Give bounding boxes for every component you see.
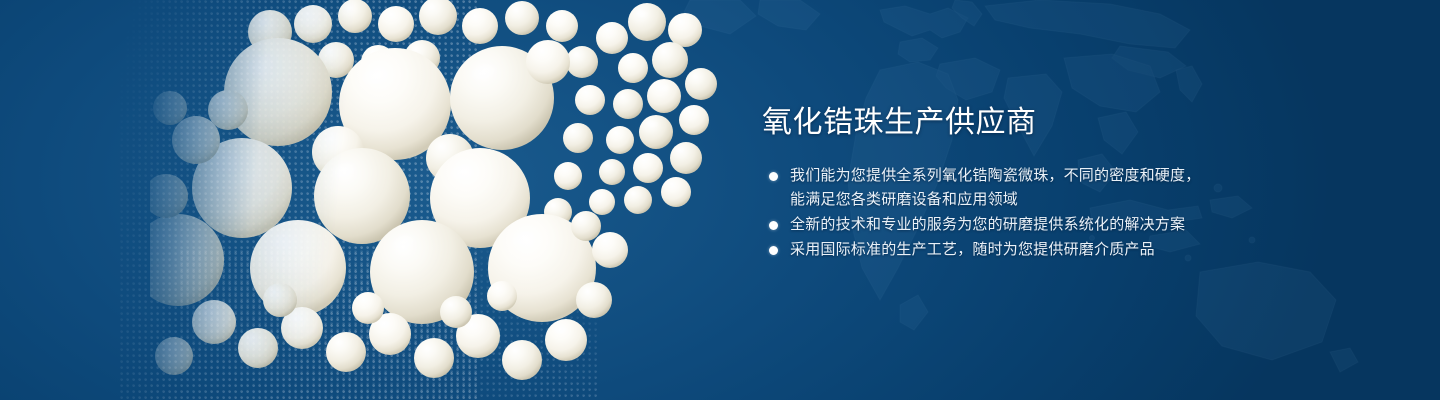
list-item-line1: 采用国际标准的生产工艺，随时为您提供研磨介质产品 <box>790 238 1232 262</box>
feature-list: 我们能为您提供全系列氧化锆陶瓷微珠，不同的密度和硬度， 能满足您各类研磨设备和应… <box>762 164 1232 262</box>
bullet-dot-icon <box>769 246 778 255</box>
hero-banner: 氧化锆珠生产供应商 我们能为您提供全系列氧化锆陶瓷微珠，不同的密度和硬度， 能满… <box>0 0 1440 400</box>
list-item-line1: 全新的技术和专业的服务为您的研磨提供系统化的解决方案 <box>790 213 1232 237</box>
list-item: 全新的技术和专业的服务为您的研磨提供系统化的解决方案 <box>762 213 1232 237</box>
list-item: 我们能为您提供全系列氧化锆陶瓷微珠，不同的密度和硬度， 能满足您各类研磨设备和应… <box>762 164 1232 212</box>
bullet-dot-icon <box>769 172 778 181</box>
bullet-dot-icon <box>769 221 778 230</box>
zirconia-beads-photo <box>150 0 720 400</box>
page-title: 氧化锆珠生产供应商 <box>762 104 1232 142</box>
banner-copy: 氧化锆珠生产供应商 我们能为您提供全系列氧化锆陶瓷微珠，不同的密度和硬度， 能满… <box>762 104 1232 263</box>
list-item: 采用国际标准的生产工艺，随时为您提供研磨介质产品 <box>762 238 1232 262</box>
list-item-line2: 能满足您各类研磨设备和应用领域 <box>790 188 1232 212</box>
list-item-line1: 我们能为您提供全系列氧化锆陶瓷微珠，不同的密度和硬度， <box>790 164 1232 188</box>
